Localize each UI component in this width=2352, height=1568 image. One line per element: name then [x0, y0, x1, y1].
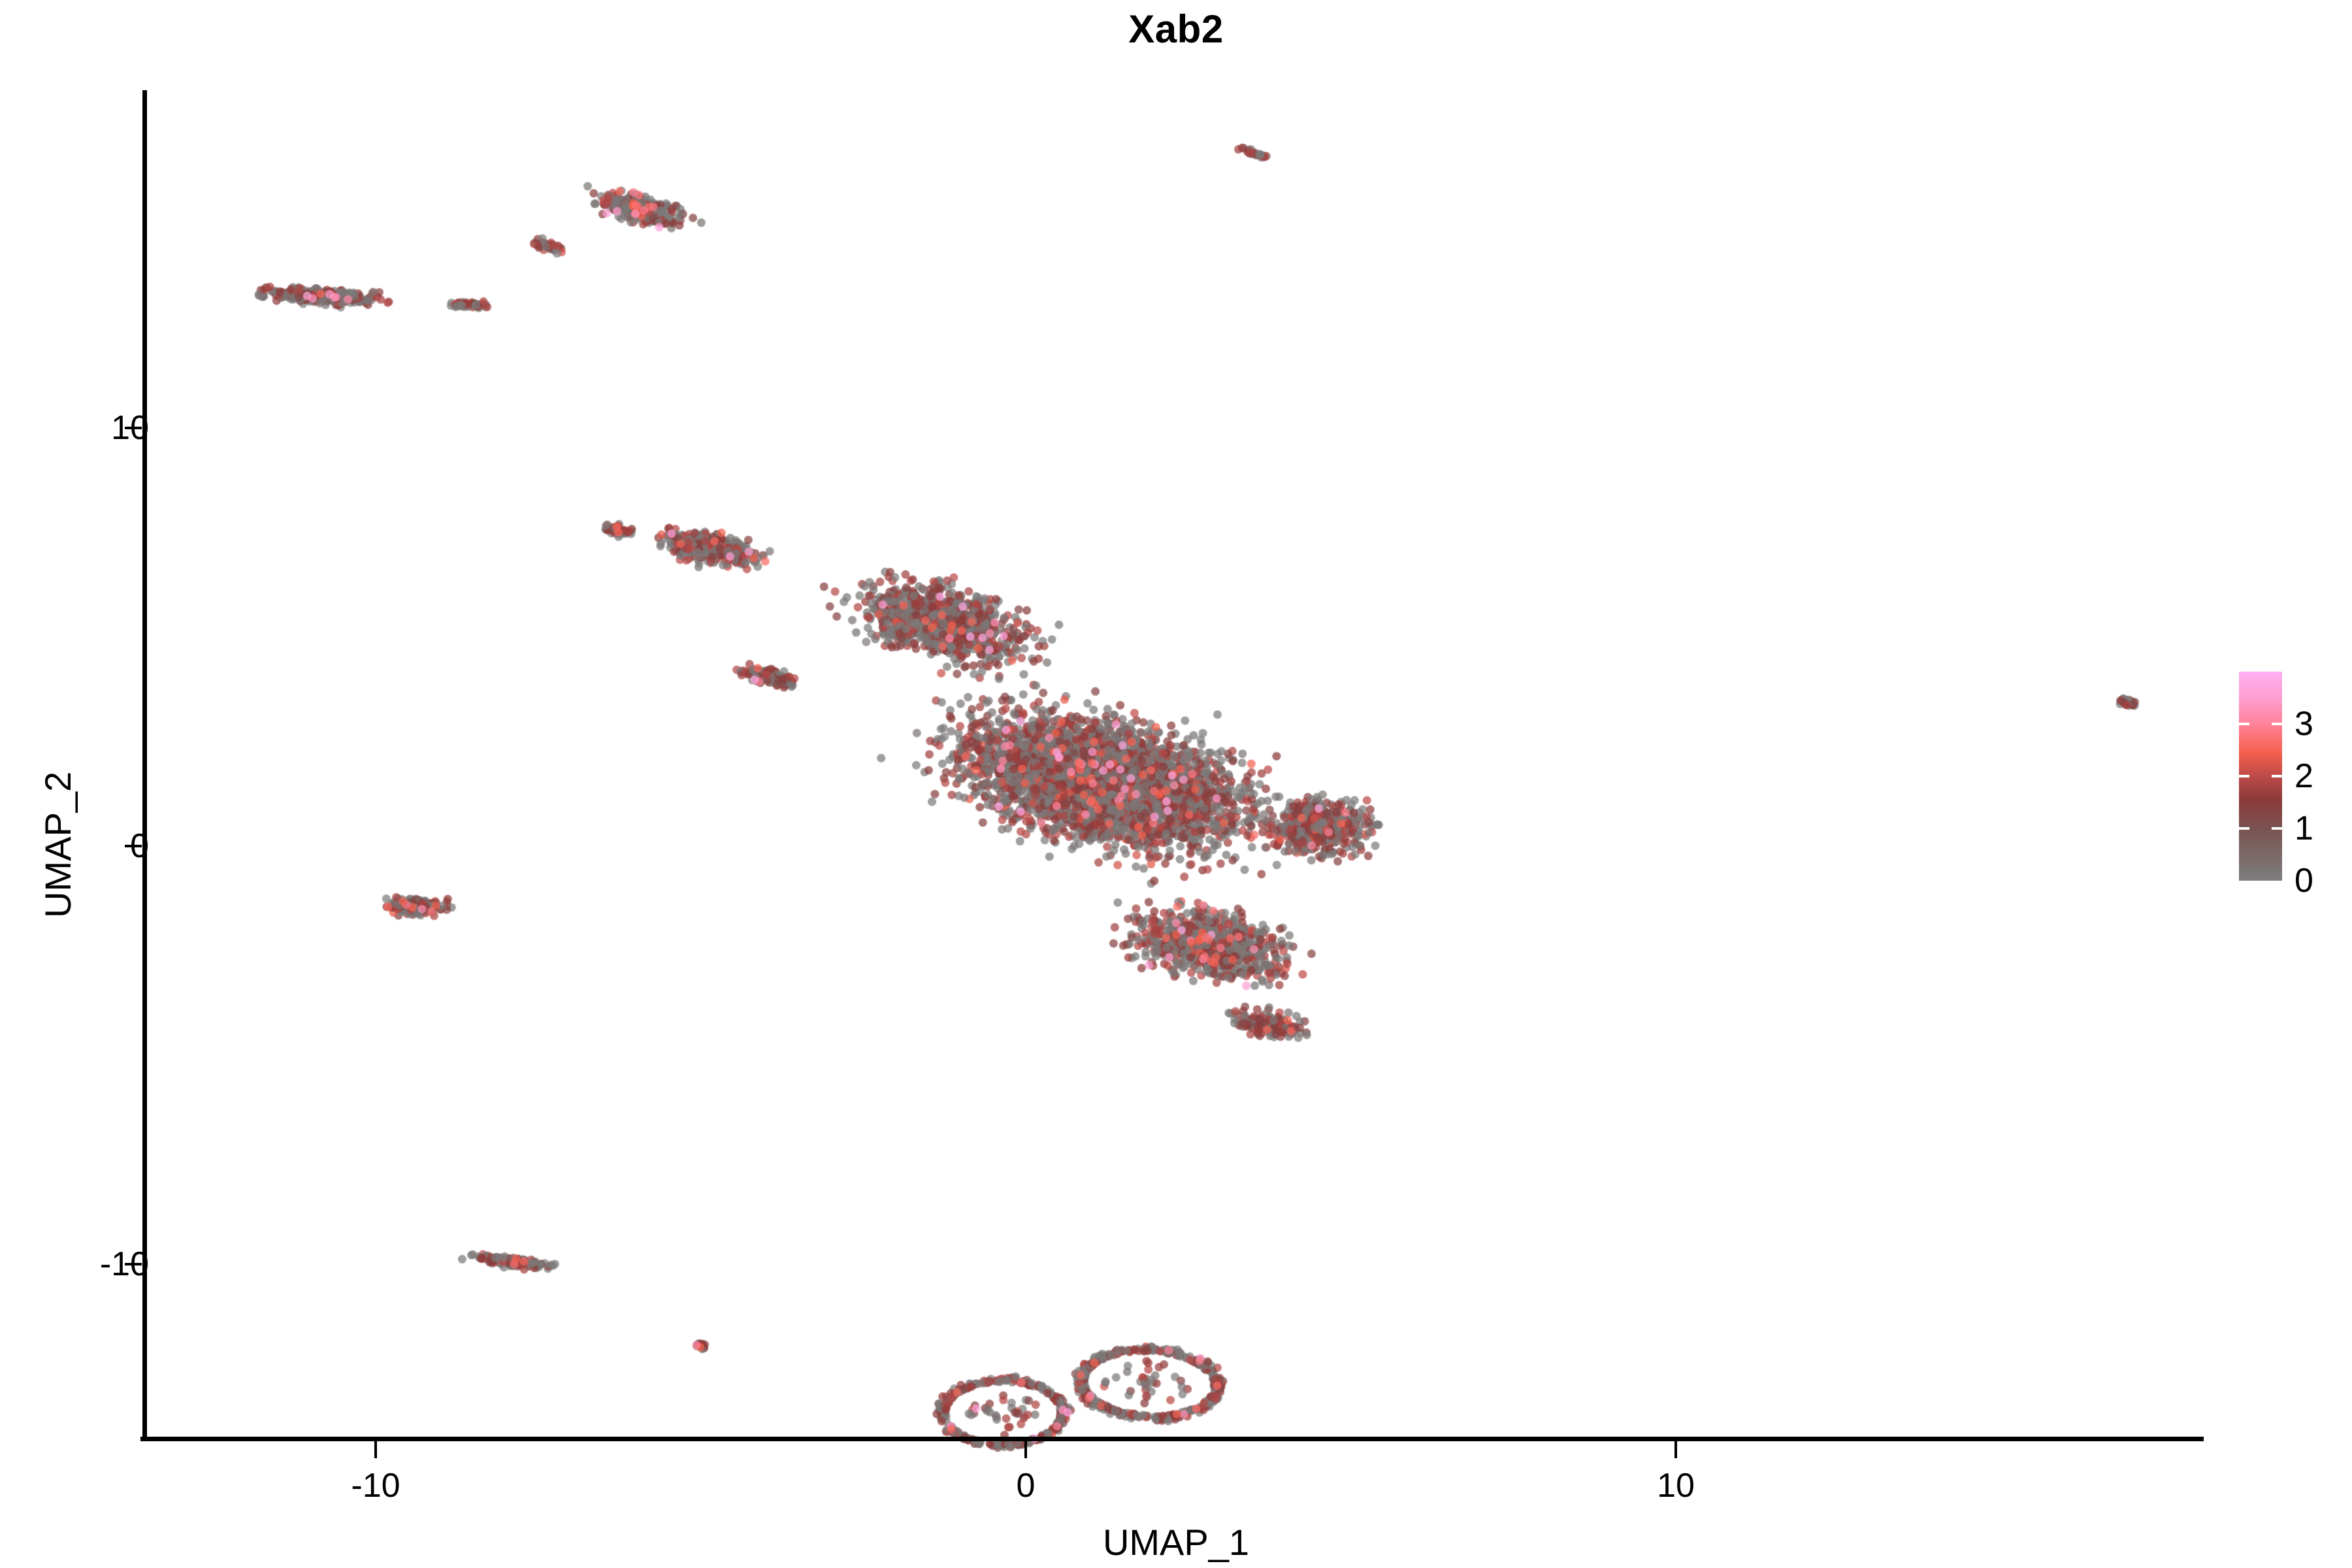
- y-tick-label: 10: [111, 411, 149, 445]
- x-tick-mark: [374, 1441, 377, 1458]
- scatter-plot-canvas: [0, 0, 2352, 1568]
- x-axis-title: UMAP_1: [0, 1521, 2352, 1563]
- x-tick-label: -10: [351, 1469, 400, 1503]
- colorbar-tick-mark: [2239, 775, 2249, 777]
- y-tick-label: 0: [130, 829, 149, 863]
- x-tick-mark: [1024, 1441, 1027, 1458]
- x-tick-label: 10: [1657, 1469, 1695, 1503]
- colorbar-tick-mark: [2239, 827, 2249, 830]
- colorbar-tick-label: 2: [2295, 759, 2313, 793]
- x-tick-mark: [1674, 1441, 1677, 1458]
- colorbar-tick-mark: [2272, 723, 2282, 725]
- colorbar-tick-mark: [2272, 827, 2282, 830]
- page-title: Xab2: [0, 7, 2352, 52]
- colorbar-tick-mark: [2239, 723, 2249, 725]
- colorbar-tick-label: 0: [2295, 864, 2313, 898]
- colorbar-tick-mark: [2272, 775, 2282, 777]
- umap-feature-plot: Xab2 -10010 100-10 UMAP_1 UMAP_2 0123: [0, 0, 2352, 1568]
- x-axis-line: [140, 1437, 2204, 1441]
- y-axis-title: UMAP_2: [37, 772, 79, 918]
- colorbar-legend[interactable]: [2239, 672, 2282, 881]
- y-tick-label: -10: [100, 1247, 149, 1281]
- x-tick-label: 0: [1017, 1469, 1036, 1503]
- colorbar-tick-label: 1: [2295, 811, 2313, 845]
- colorbar-tick-label: 3: [2295, 707, 2313, 741]
- y-axis-line: [142, 90, 147, 1441]
